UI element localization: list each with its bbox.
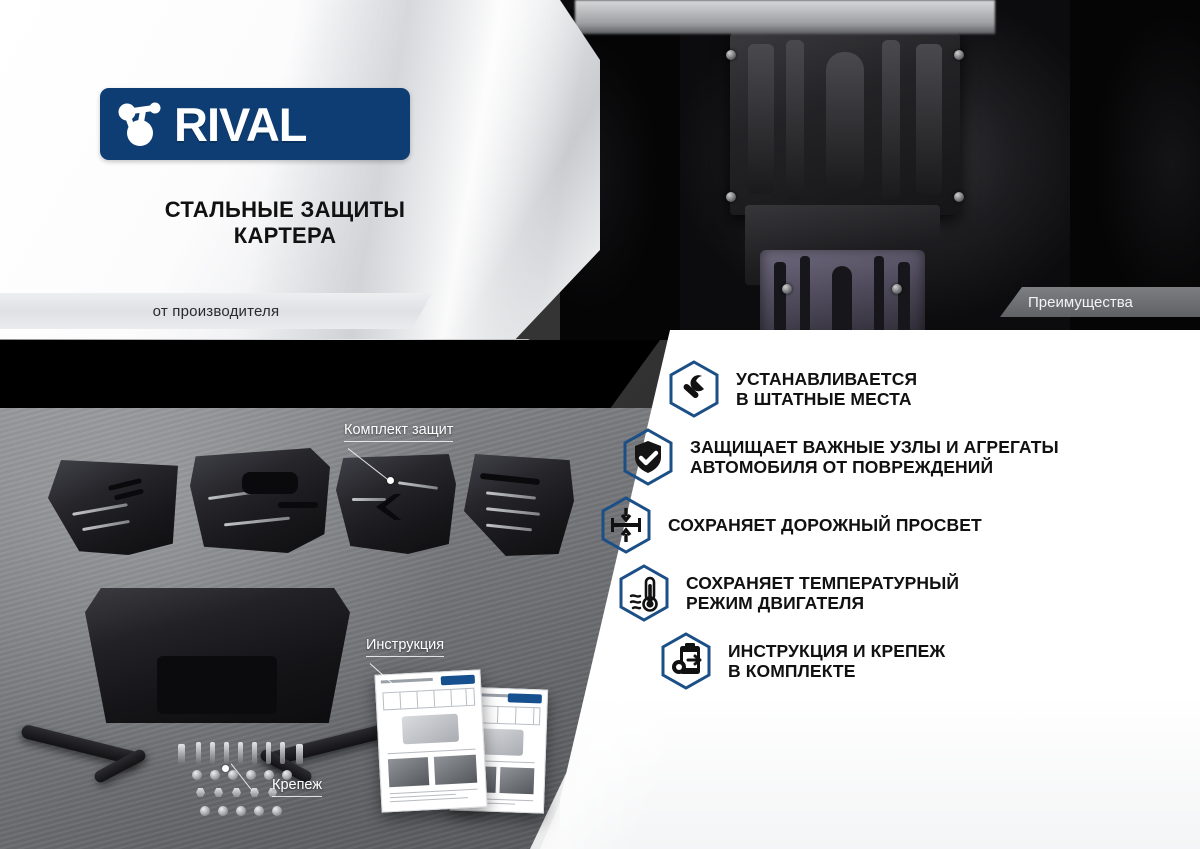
page-subtitle: от производителя (153, 303, 280, 320)
brand-logo: RIVAL (100, 88, 410, 160)
engine-skid-plate (85, 588, 350, 723)
subtitle-band: от производителя (0, 293, 432, 329)
advantage-item-clearance: СОХРАНЯЕТ ДОРОЖНЫЙ ПРОСВЕТ (600, 496, 1200, 554)
advantage-item-protection: ЗАЩИЩАЕТ ВАЖНЫЕ УЗЛЫ И АГРЕГАТЫ АВТОМОБИ… (622, 428, 1200, 486)
product-stage (0, 408, 660, 849)
advantage-label: СОХРАНЯЕТ ДОРОЖНЫЙ ПРОСВЕТ (668, 515, 982, 535)
section-tab-label: Преимущества (1028, 294, 1133, 311)
advantage-item-temperature: СОХРАНЯЕТ ТЕМПЕРАТУРНЫЙ РЕЖИМ ДВИГАТЕЛЯ (618, 564, 1200, 622)
installed-skid-plate-lower (760, 250, 925, 340)
skid-plate-2 (190, 448, 330, 553)
callout-kit: Комплект защит (344, 422, 453, 438)
installed-skid-plate-upper (730, 30, 960, 215)
section-tab-advantages: Преимущества (1000, 287, 1200, 317)
instruction-sheet-front (374, 669, 487, 812)
advantage-label: ИНСТРУКЦИЯ И КРЕПЕЖ В КОМПЛЕКТЕ (728, 641, 945, 682)
advantage-label: ЗАЩИЩАЕТ ВАЖНЫЕ УЗЛЫ И АГРЕГАТЫ АВТОМОБИ… (690, 437, 1059, 478)
page-title: СТАЛЬНЫЕ ЗАЩИТЫ КАРТЕРА (60, 197, 510, 250)
brand-name: RIVAL (174, 101, 307, 148)
callout-hardware-dot (222, 765, 229, 772)
advantage-label: УСТАНАВЛИВАЕТСЯ В ШТАТНЫЕ МЕСТА (736, 369, 917, 410)
advantage-item-installation: УСТАНАВЛИВАЕТСЯ В ШТАТНЫЕ МЕСТА (668, 360, 1200, 418)
skid-plate-3 (336, 454, 456, 554)
molecule-icon (114, 99, 168, 149)
callout-hardware: Крепеж (272, 777, 322, 793)
clearance-icon (600, 496, 652, 554)
callout-instruction: Инструкция (366, 637, 444, 653)
advantage-item-kit: ИНСТРУКЦИЯ И КРЕПЕЖ В КОМПЛЕКТЕ (660, 632, 1200, 690)
advantages-list: УСТАНАВЛИВАЕТСЯ В ШТАТНЫЕ МЕСТА ЗАЩИЩАЕТ… (600, 360, 1200, 700)
clipboard-bolt-icon (660, 632, 712, 690)
thermometer-icon (618, 564, 670, 622)
shield-check-icon (622, 428, 674, 486)
wrench-icon (668, 360, 720, 418)
vehicle-body-panel (575, 0, 995, 34)
skid-plate-4 (464, 454, 574, 556)
advantage-label: СОХРАНЯЕТ ТЕМПЕРАТУРНЫЙ РЕЖИМ ДВИГАТЕЛЯ (686, 573, 959, 614)
poster-canvas: RIVAL СТАЛЬНЫЕ ЗАЩИТЫ КАРТЕРА от произво… (0, 0, 1200, 849)
callout-kit-dot (387, 477, 394, 484)
